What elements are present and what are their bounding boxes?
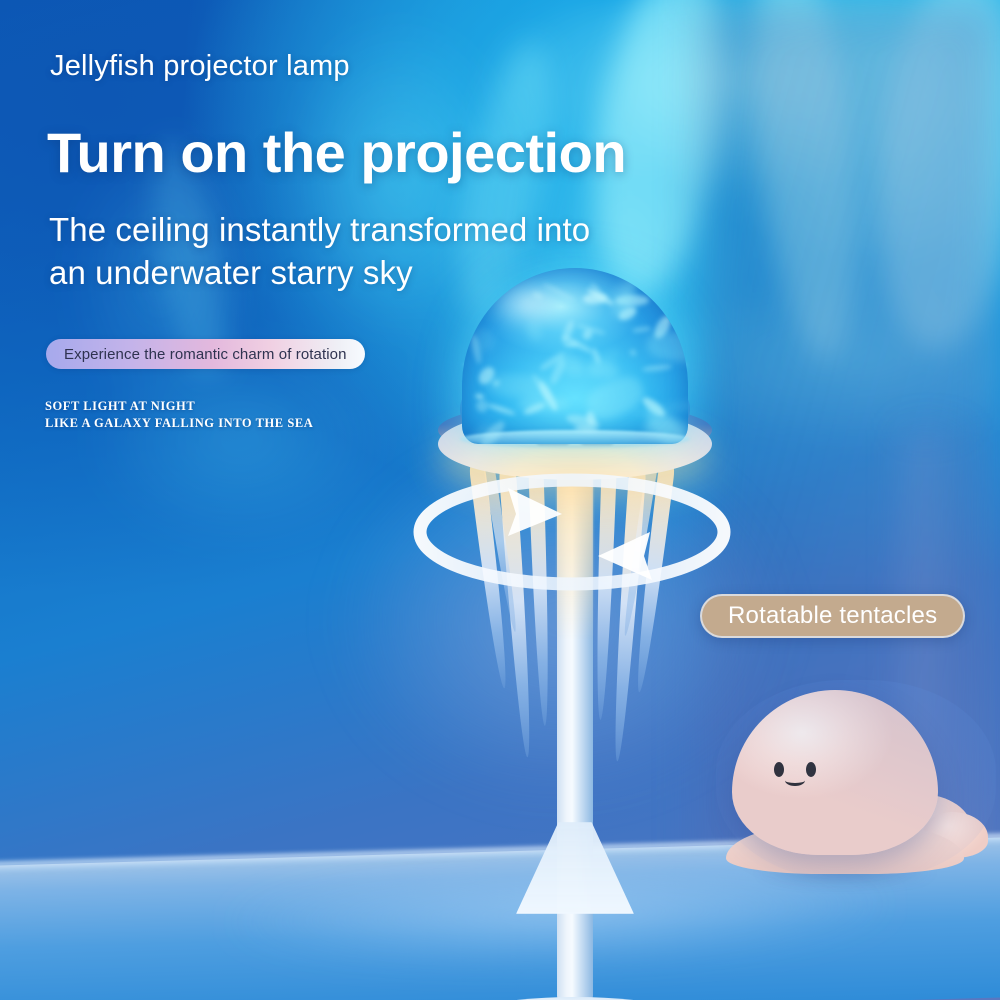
octopus-smile — [785, 775, 805, 786]
rotation-charm-badge: Experience the romantic charm of rotatio… — [46, 339, 365, 369]
subheading-line-1: The ceiling instantly transformed into — [49, 208, 590, 251]
tagline-caption: SOFT LIGHT AT NIGHT LIKE A GALAXY FALLIN… — [45, 398, 313, 432]
lamp-foot-cone — [516, 822, 634, 914]
octopus-night-light — [726, 690, 986, 880]
dome-texture-wash — [487, 372, 551, 399]
rotatable-tentacles-badge: Rotatable tentacles — [700, 594, 965, 638]
rotation-arrowhead-left — [508, 488, 562, 536]
dome-texture-wash — [519, 397, 568, 411]
rotatable-tentacles-badge-label: Rotatable tentacles — [728, 602, 937, 630]
subheading: The ceiling instantly transformed into a… — [49, 208, 590, 294]
rotation-ellipse — [420, 480, 724, 584]
subheading-line-2: an underwater starry sky — [49, 251, 590, 294]
page-title: Turn on the projection — [47, 120, 626, 185]
dome-texture-blob — [632, 326, 652, 333]
rotation-arrow-ring — [412, 470, 732, 600]
eyebrow-text: Jellyfish projector lamp — [50, 50, 350, 83]
dome-rim — [460, 430, 690, 448]
dome-texture-blob — [628, 348, 637, 358]
dome-texture-blob — [673, 293, 688, 323]
dome-texture-blob — [642, 364, 672, 373]
product-ad-canvas: Jellyfish projector lamp Turn on the pro… — [0, 0, 1000, 1000]
tagline-line-2: LIKE A GALAXY FALLING INTO THE SEA — [45, 415, 313, 432]
octopus-eye-right — [806, 762, 816, 777]
projector-dome — [462, 268, 688, 444]
dome-texture-blob — [487, 402, 516, 416]
rotation-charm-badge-label: Experience the romantic charm of rotatio… — [64, 346, 347, 363]
tagline-line-1: SOFT LIGHT AT NIGHT — [45, 398, 313, 415]
dome-texture-wash — [646, 329, 688, 364]
octopus-eye-left — [774, 762, 784, 777]
rotation-arrowhead-right — [598, 532, 652, 580]
octopus-head — [732, 690, 938, 855]
